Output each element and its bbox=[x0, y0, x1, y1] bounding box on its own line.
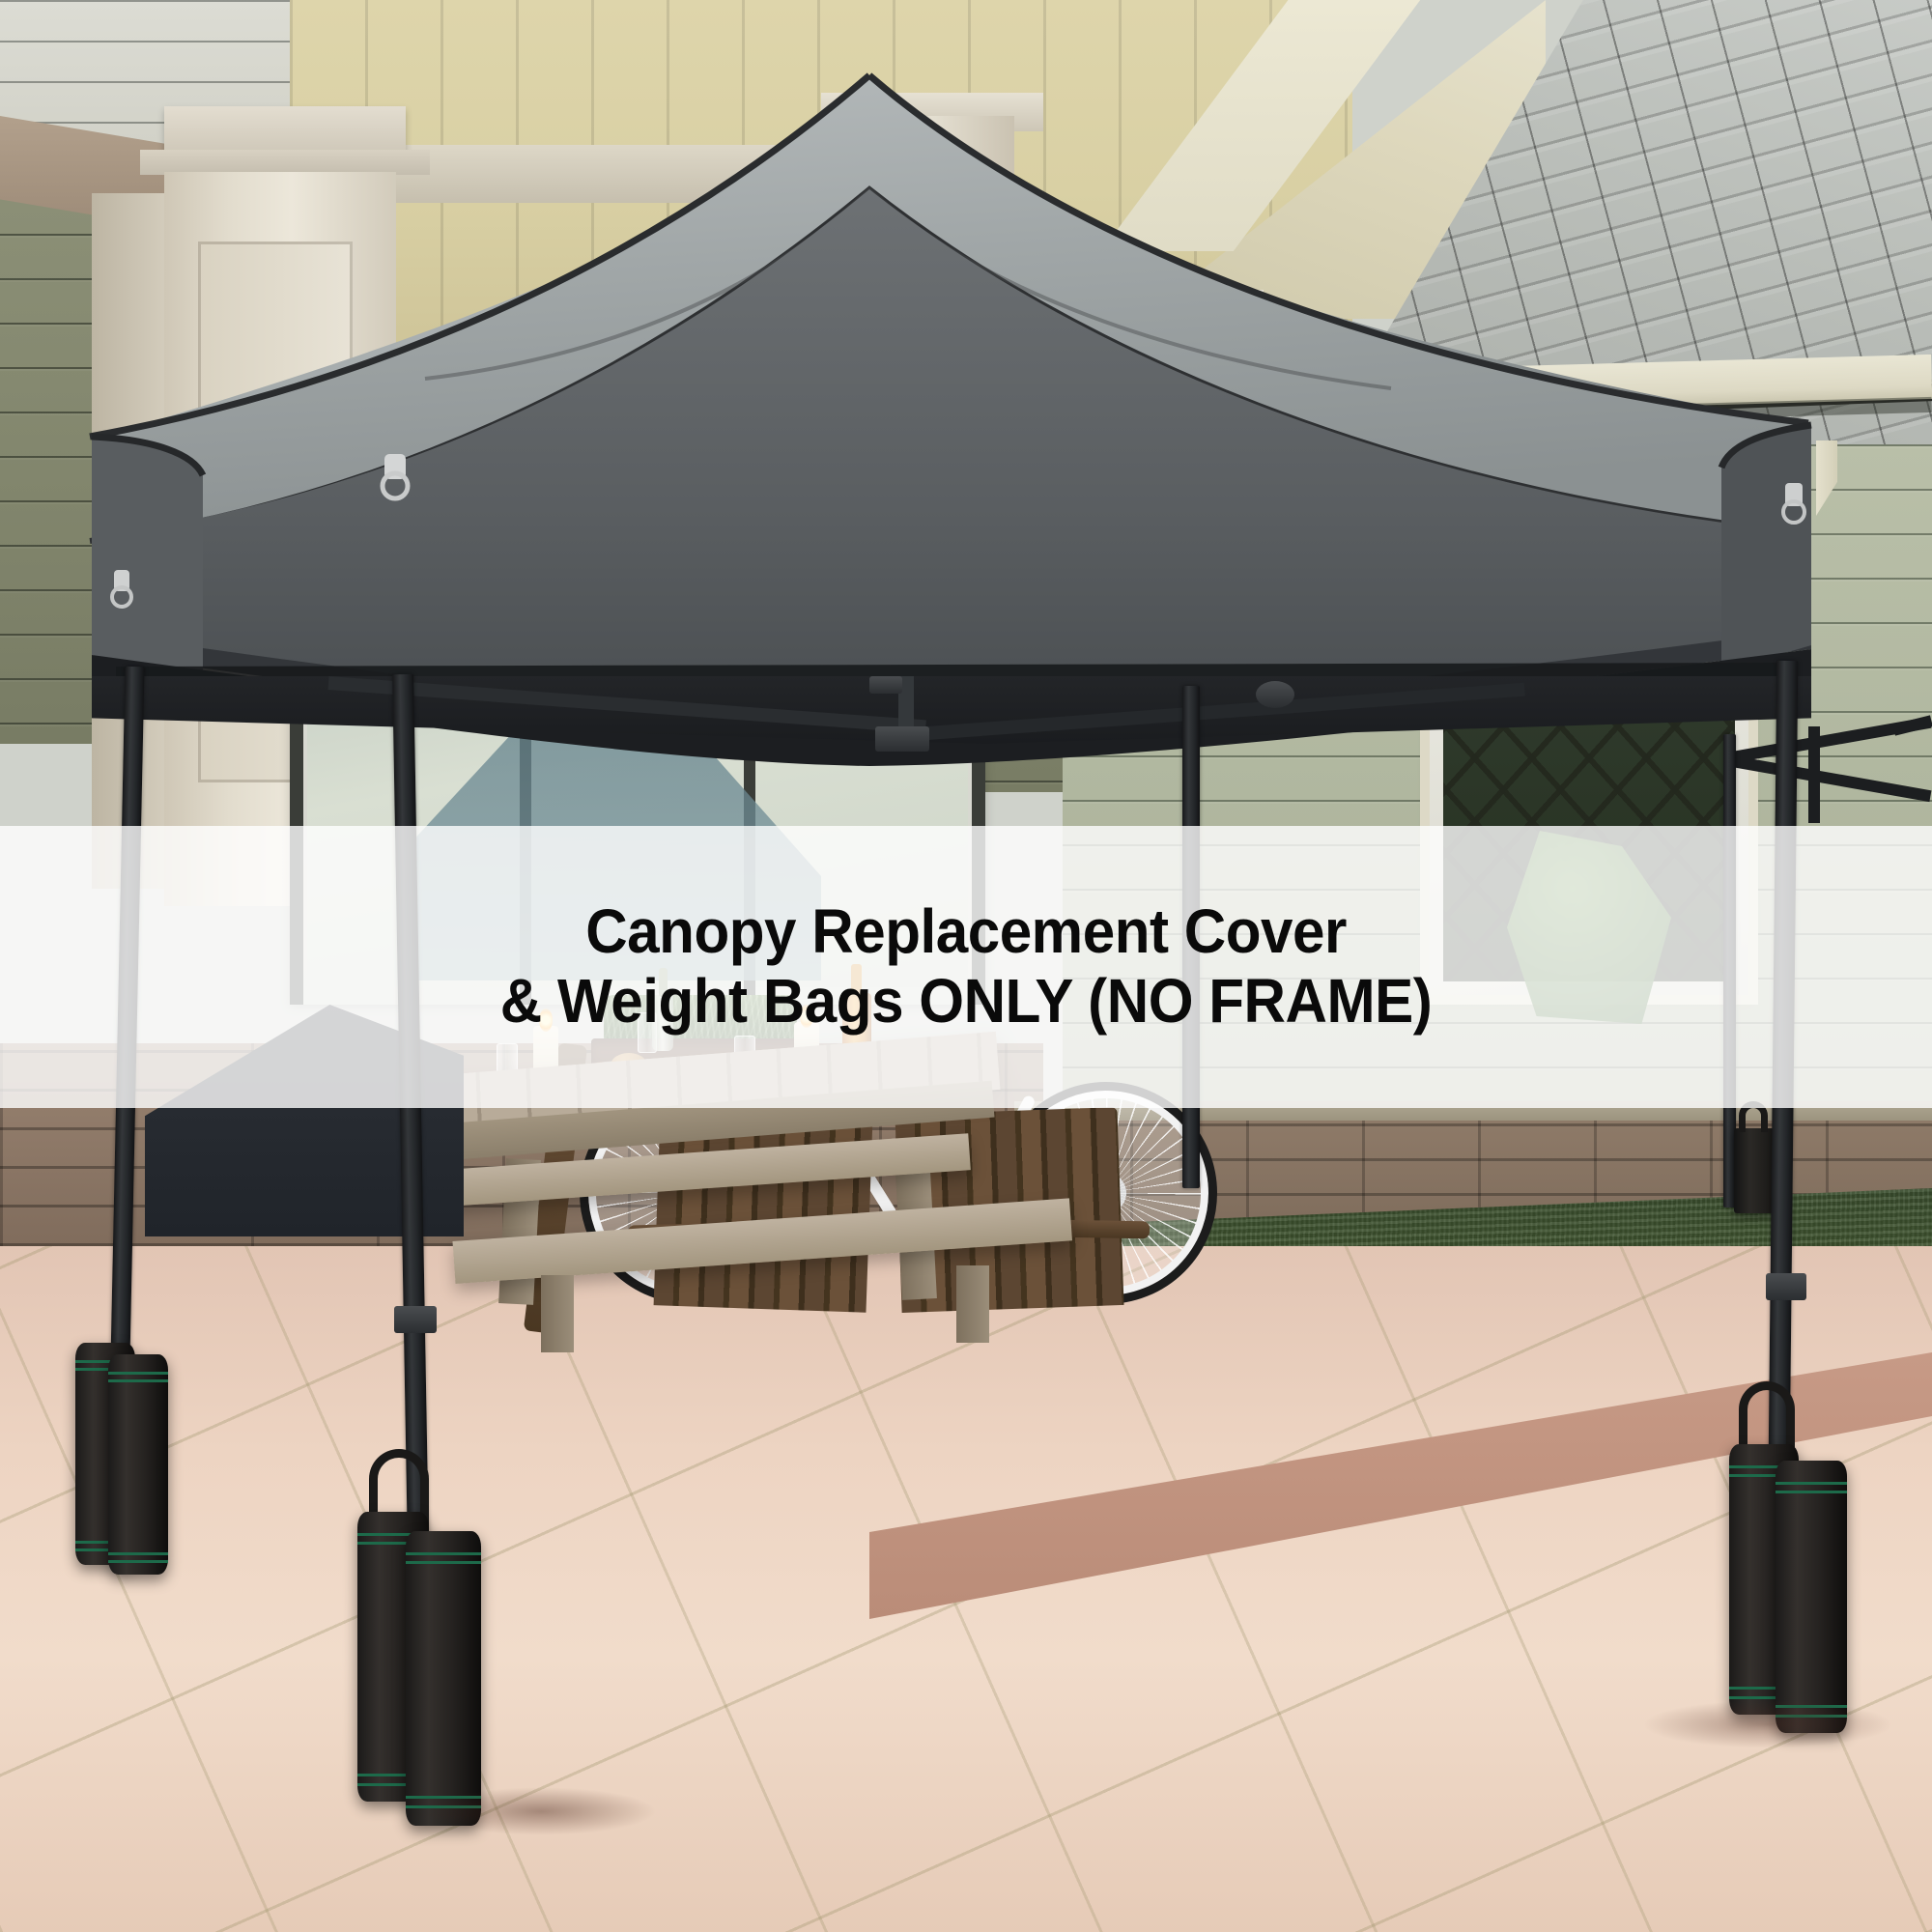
product-image-stage: Canopy Replacement Cover & Weight Bags O… bbox=[0, 0, 1932, 1932]
weight-bag-front-left-b bbox=[406, 1531, 481, 1826]
second-canopy-weight-bag bbox=[1734, 1128, 1775, 1213]
bench-leg-right bbox=[956, 1265, 989, 1343]
canopy-product bbox=[0, 0, 1932, 966]
canopy-corner-left bbox=[92, 437, 203, 676]
truss-hub-bracket bbox=[869, 676, 902, 694]
pole-height-clip-right bbox=[1766, 1273, 1806, 1300]
pole-height-clip-left bbox=[394, 1306, 437, 1333]
banner-line-2: & Weight Bags ONLY (NO FRAME) bbox=[500, 967, 1433, 1037]
weight-bag-front-right-b bbox=[1776, 1461, 1847, 1733]
canopy-corner-right bbox=[1721, 425, 1811, 667]
weight-bag-back-left-b bbox=[108, 1354, 168, 1575]
text-overlay-banner: Canopy Replacement Cover & Weight Bags O… bbox=[0, 826, 1932, 1108]
truss-joint-right bbox=[1256, 681, 1294, 708]
banner-text-block: Canopy Replacement Cover & Weight Bags O… bbox=[500, 897, 1433, 1036]
shadow-front-right-bags bbox=[1642, 1700, 1893, 1748]
bench-leg-left bbox=[541, 1275, 574, 1352]
canopy-roof-svg bbox=[0, 0, 1932, 966]
second-canopy-joint bbox=[1808, 726, 1820, 823]
banner-line-1: Canopy Replacement Cover bbox=[585, 896, 1347, 966]
shadow-front-left-bags bbox=[425, 1787, 657, 1835]
truss-center-bracket bbox=[875, 726, 929, 752]
